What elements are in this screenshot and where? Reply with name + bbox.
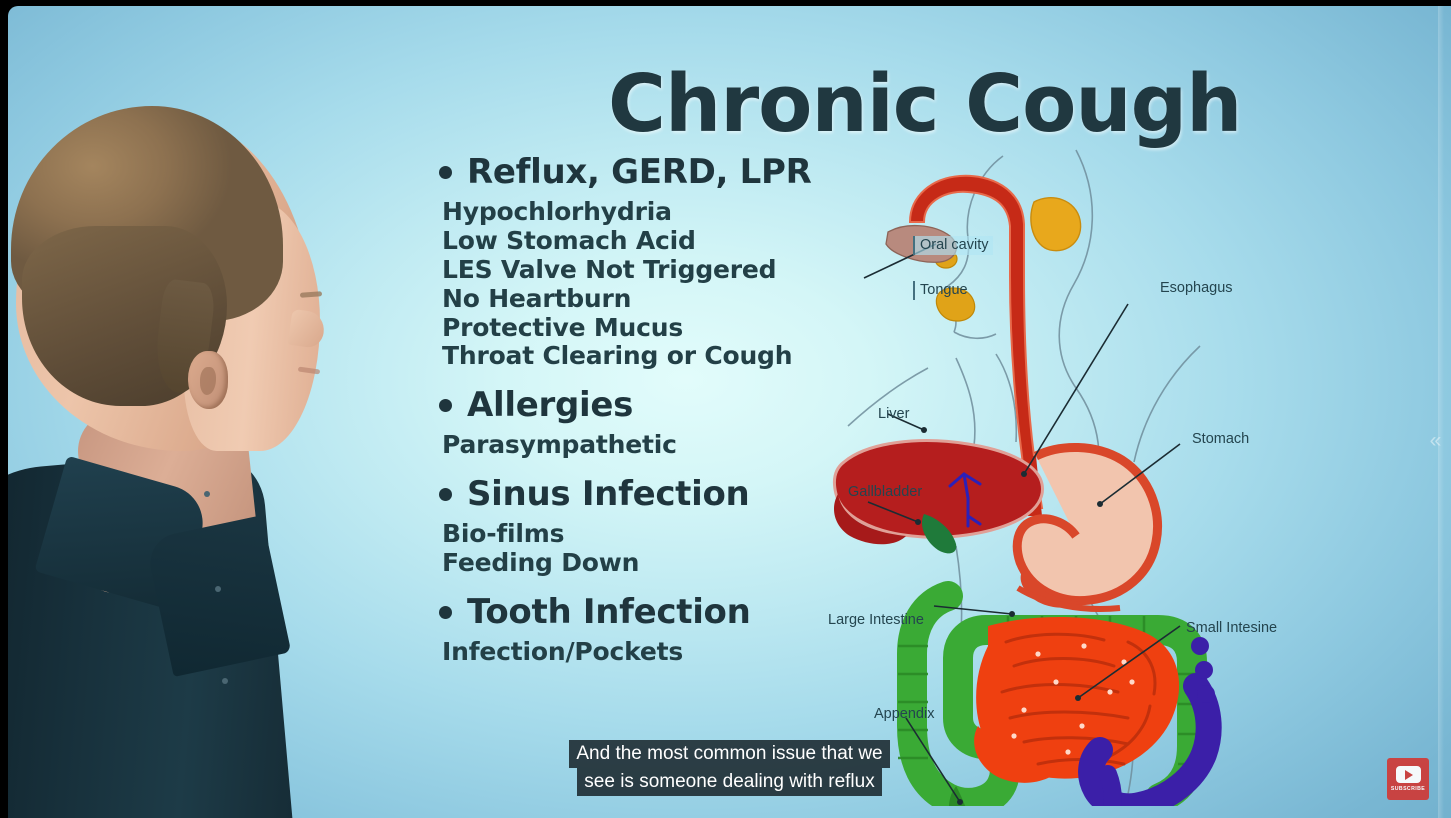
video-picture[interactable]: Chronic Cough Reflux, GERD, LPR Hypochlo… bbox=[8, 6, 1451, 818]
label-esophagus: Esophagus bbox=[1160, 280, 1233, 296]
bullet-sub-item: Parasympathetic bbox=[442, 431, 799, 460]
label-tongue: Tongue bbox=[913, 281, 972, 300]
bullet-sub-item: Bio-films bbox=[442, 520, 799, 549]
bullet-sub-item: LES Valve Not Triggered bbox=[442, 256, 799, 285]
bullet-major-label: Allergies bbox=[467, 385, 633, 425]
video-frame[interactable]: Chronic Cough Reflux, GERD, LPR Hypochlo… bbox=[0, 0, 1451, 818]
label-large-intestine: Large Intestine bbox=[828, 612, 924, 628]
bullet-major-label: Tooth Infection bbox=[467, 592, 751, 632]
label-liver: Liver bbox=[878, 406, 909, 422]
label-appendix: Appendix bbox=[874, 706, 934, 722]
bullet-dot-icon bbox=[439, 166, 452, 179]
stomach-shape bbox=[1017, 447, 1157, 600]
bullet-sub-item: Protective Mucus bbox=[442, 314, 799, 343]
bullet-dot-icon bbox=[439, 399, 452, 412]
shirt-button bbox=[222, 678, 228, 684]
bullet-sub-item: Low Stomach Acid bbox=[442, 227, 799, 256]
play-triangle-icon bbox=[1405, 770, 1413, 780]
bullet-sub-item: Feeding Down bbox=[442, 549, 799, 578]
bullet-sublist-allergies: Parasympathetic bbox=[442, 431, 799, 460]
bullet-major-label: Sinus Infection bbox=[467, 474, 749, 514]
bullet-sublist-reflux: Hypochlorhydria Low Stomach Acid LES Val… bbox=[442, 198, 799, 371]
bullet-major-label: Reflux, GERD, LPR bbox=[467, 152, 812, 192]
youtube-play-icon bbox=[1396, 766, 1421, 783]
bullet-sublist-sinus: Bio-films Feeding Down bbox=[442, 520, 799, 578]
youtube-subscribe-watermark[interactable]: SUBSCRIBE bbox=[1387, 758, 1429, 800]
bullet-sub-item: Infection/Pockets bbox=[442, 638, 799, 667]
bullet-dot-icon bbox=[439, 606, 452, 619]
bullet-major-allergies: Allergies bbox=[439, 385, 799, 425]
presenter-nose bbox=[288, 309, 327, 349]
label-gallbladder: Gallbladder bbox=[848, 484, 922, 500]
anatomy-svg bbox=[828, 126, 1448, 806]
bullet-major-sinus-infection: Sinus Infection bbox=[439, 474, 799, 514]
bullet-sub-item: Throat Clearing or Cough bbox=[442, 342, 799, 371]
subscribe-label: SUBSCRIBE bbox=[1391, 786, 1425, 792]
bullet-major-reflux: Reflux, GERD, LPR bbox=[439, 152, 799, 192]
label-oral-cavity: Oral cavity bbox=[913, 236, 993, 255]
shirt-button bbox=[215, 586, 221, 592]
slide-bullet-list: Reflux, GERD, LPR Hypochlorhydria Low St… bbox=[439, 152, 799, 667]
salivary-gland-parotid-icon bbox=[1031, 198, 1081, 251]
bullet-sublist-tooth: Infection/Pockets bbox=[442, 638, 799, 667]
label-stomach: Stomach bbox=[1192, 431, 1249, 447]
bullet-dot-icon bbox=[439, 488, 452, 501]
presenter-person bbox=[8, 106, 338, 818]
shirt-button bbox=[204, 491, 210, 497]
label-small-intestine: Small Intesine bbox=[1186, 620, 1277, 636]
chevron-left-icon[interactable]: « bbox=[1420, 406, 1451, 476]
bullet-major-tooth-infection: Tooth Infection bbox=[439, 592, 799, 632]
presenter-ear bbox=[188, 351, 228, 409]
digestive-system-diagram: Oral cavity Tongue Esophagus Liver Gallb… bbox=[828, 126, 1448, 806]
bullet-sub-item: Hypochlorhydria bbox=[442, 198, 799, 227]
bullet-sub-item: No Heartburn bbox=[442, 285, 799, 314]
